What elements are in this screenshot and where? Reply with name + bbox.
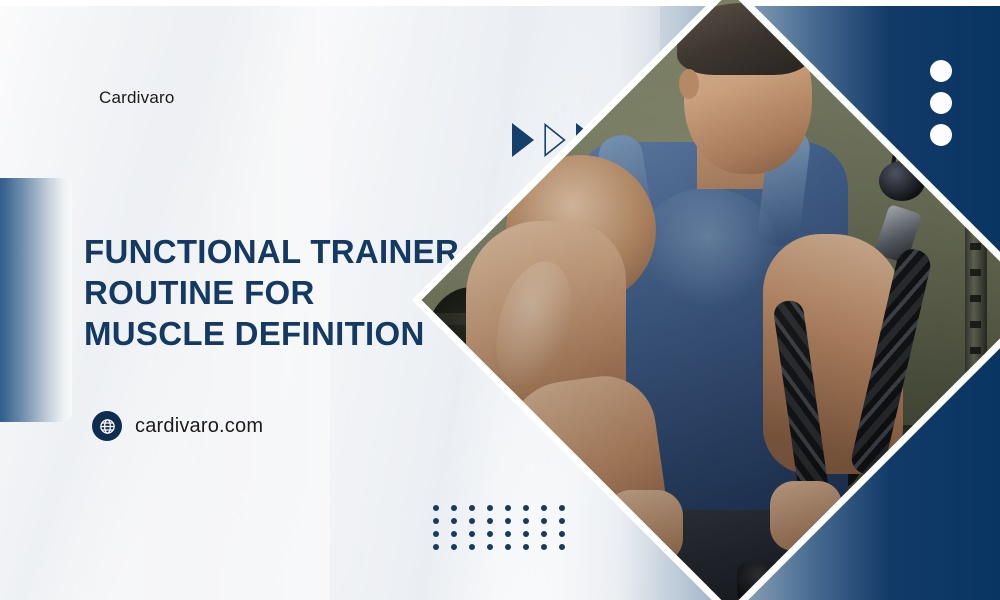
dot [451,518,457,524]
circle-dot-3 [930,124,952,146]
dot [541,544,547,550]
poster-canvas: Cardivaro FUNCTIONAL TRAINER ROUTINE FOR… [0,0,1000,600]
dot [433,505,439,511]
dot [487,531,493,537]
globe-icon [92,411,122,441]
dot [469,505,475,511]
dot [487,544,493,550]
top-white-strip [0,0,1000,6]
circle-dot-1 [930,60,952,82]
dot-grid-decoration [433,505,577,557]
circle-decoration-group [930,60,952,146]
dot [487,505,493,511]
dot [433,544,439,550]
left-gradient-bar [0,178,72,422]
dot [559,531,565,537]
brand-name: Cardivaro [99,88,175,108]
dot [505,544,511,550]
dot [523,544,529,550]
website-url-text: cardivaro.com [135,415,263,438]
dot [433,531,439,537]
circle-dot-2 [930,92,952,114]
dot [451,531,457,537]
dot [505,505,511,511]
dot [469,544,475,550]
dot [523,531,529,537]
dot [469,531,475,537]
dot [559,518,565,524]
dot [451,505,457,511]
website-link[interactable]: cardivaro.com [92,411,263,441]
dot [505,531,511,537]
dot [469,518,475,524]
dot [541,518,547,524]
dot [541,531,547,537]
dot [433,518,439,524]
dot [487,518,493,524]
dot [523,518,529,524]
dot [541,505,547,511]
dot [451,544,457,550]
dot [505,518,511,524]
dot [559,544,565,550]
triangle-filled-1-icon [512,123,534,157]
dot [523,505,529,511]
dot [559,505,565,511]
